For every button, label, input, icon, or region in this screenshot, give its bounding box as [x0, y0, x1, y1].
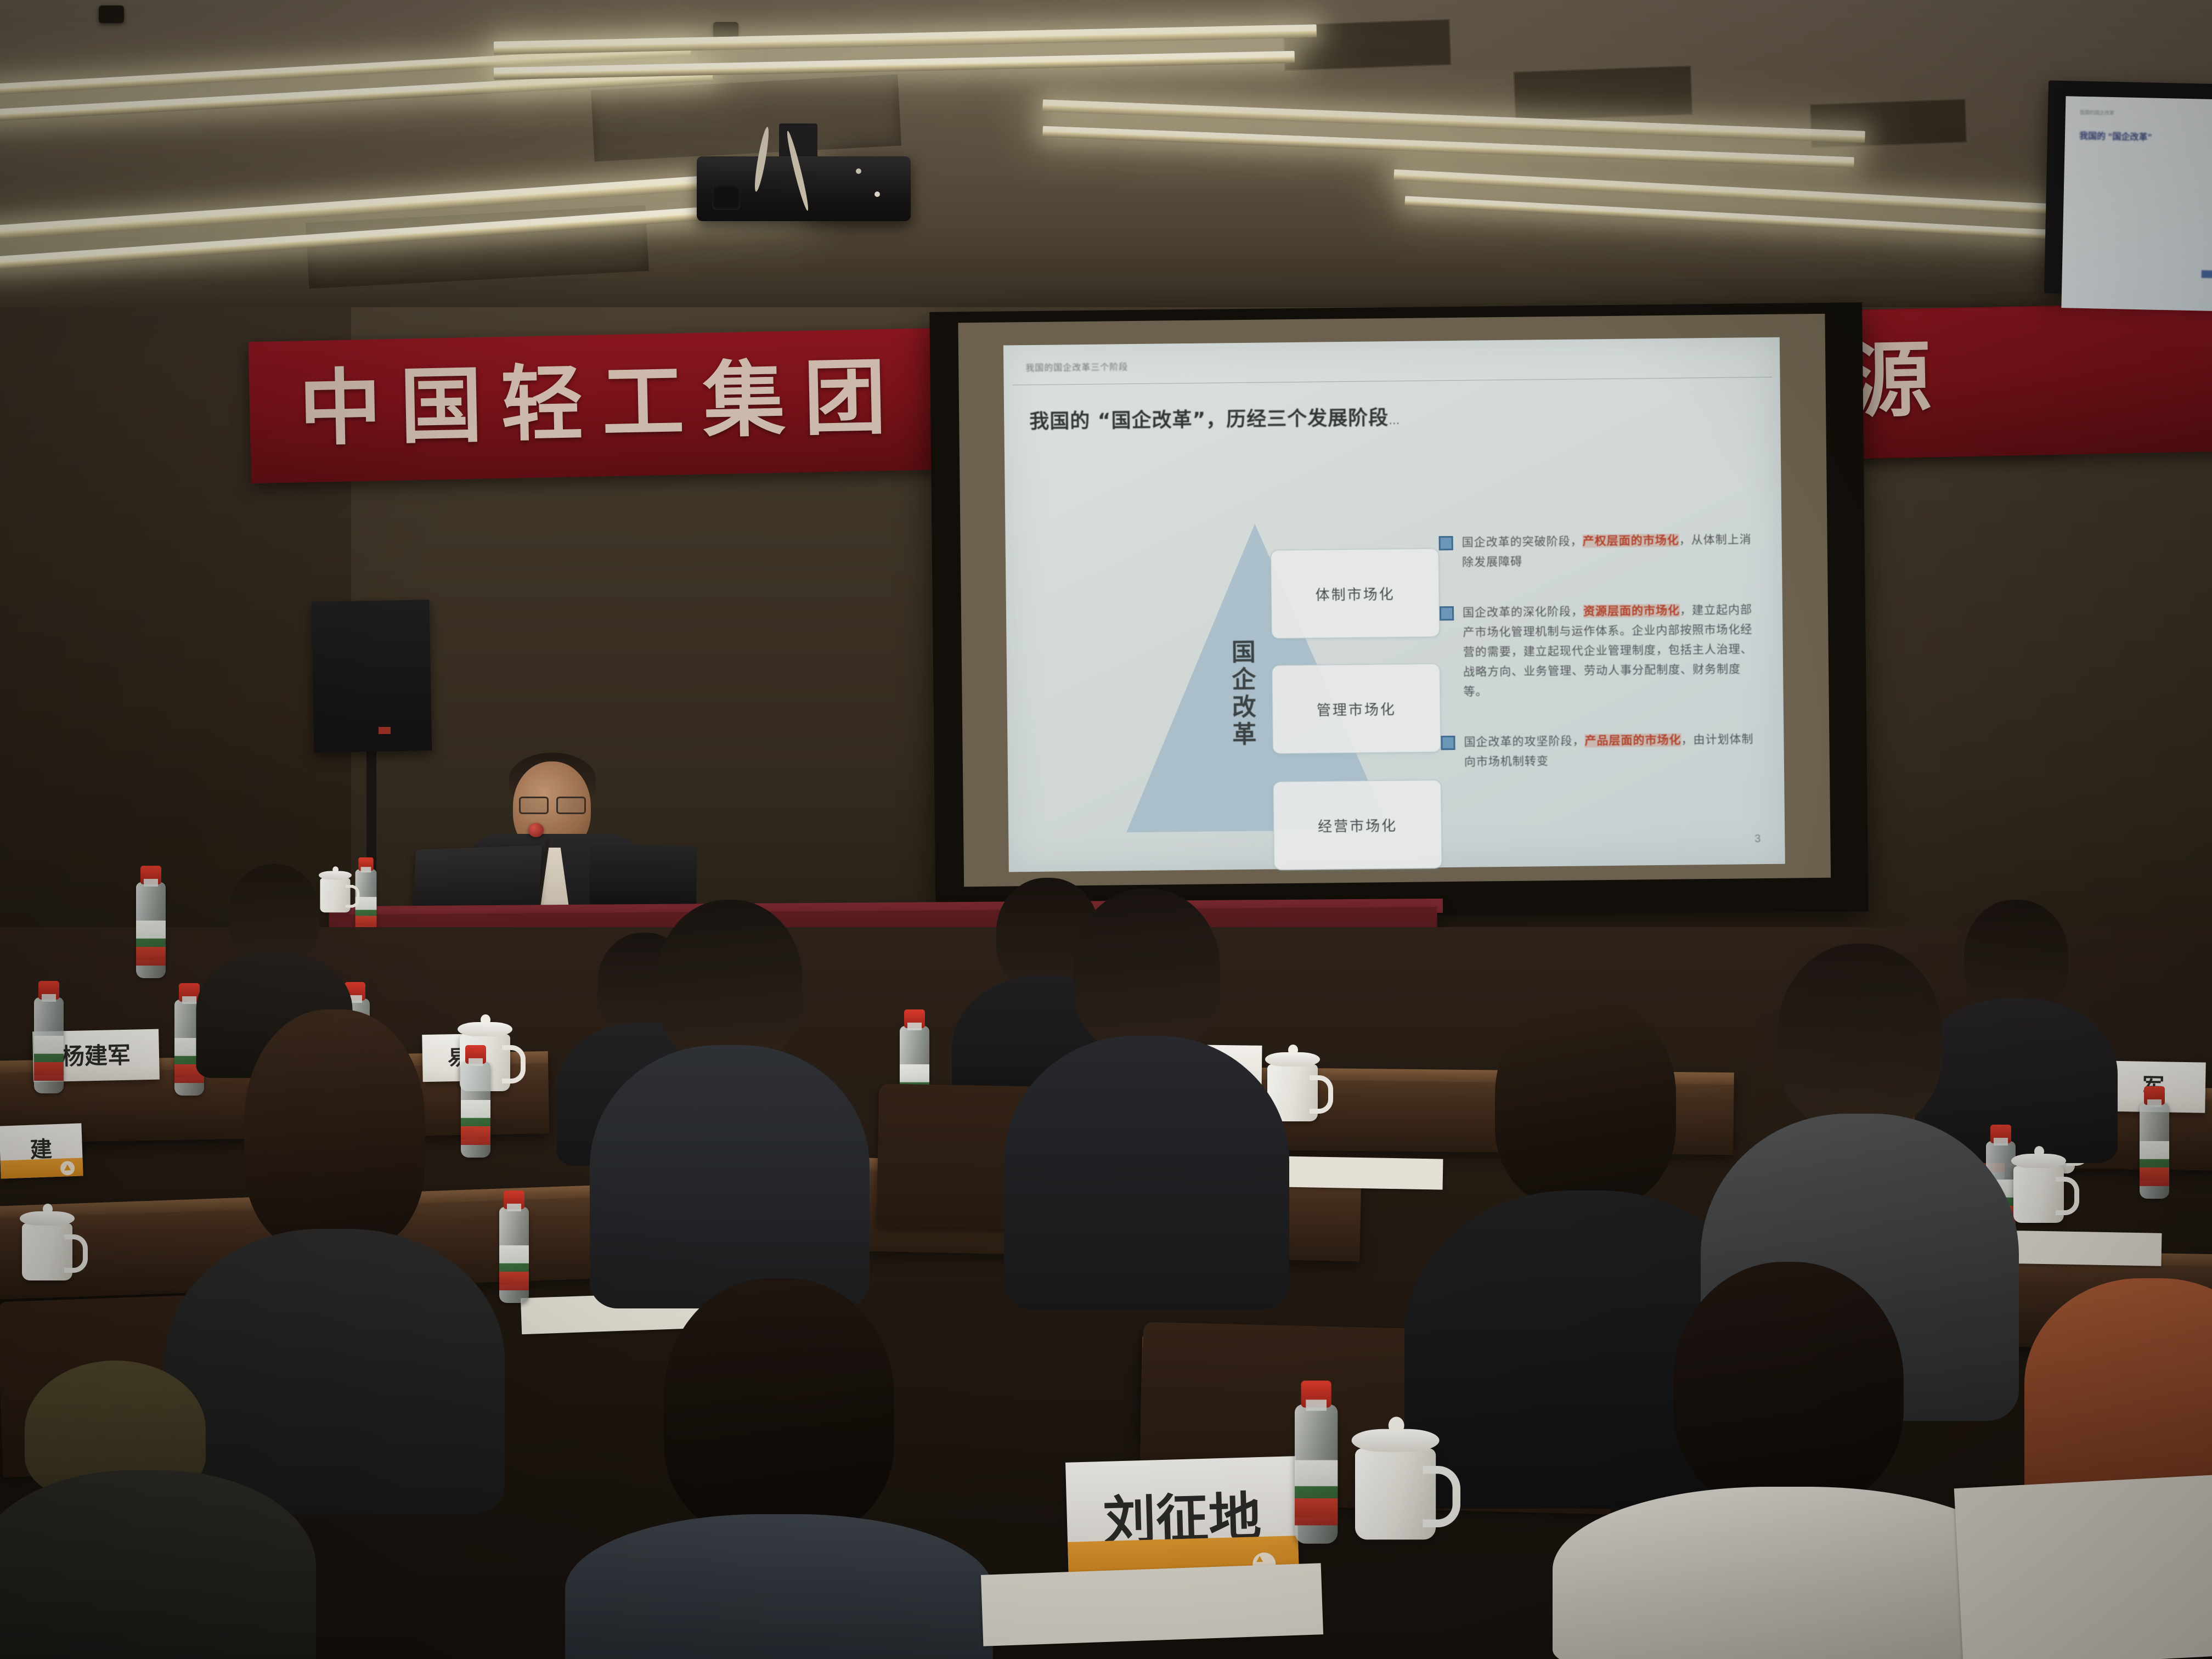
- bottle-label-red: [499, 1272, 529, 1290]
- wall-monitor: 我国的国企改革 我国的 “国企改革”: [2044, 81, 2212, 297]
- slide-page-number: 3: [1754, 833, 1760, 845]
- tea-cup-knob: [1389, 1417, 1404, 1434]
- tea-cup-handle: [346, 885, 360, 908]
- projection-screen-surface: 我国的国企改革三个阶段 我国的 “国企改革”，历经三个发展阶段… 国企改革 体制…: [958, 314, 1831, 887]
- bottle-label-red: [1295, 1498, 1338, 1525]
- pyramid-vertical-label: 国企改革: [1223, 639, 1260, 749]
- audience-member: [592, 1278, 966, 1659]
- pyramid-diagram: 国企改革 体制市场化 管理市场化 经营市场化: [1123, 522, 1390, 832]
- audience-head: [1495, 998, 1676, 1207]
- tea-cup-handle: [502, 1045, 526, 1084]
- projector-lens-icon: [712, 185, 741, 210]
- audience-head: [229, 864, 320, 966]
- tea-cup-knob: [2034, 1146, 2044, 1157]
- audience-member: [1580, 1262, 1997, 1659]
- bottle-neck: [907, 1023, 922, 1030]
- audience-member: [614, 900, 845, 1306]
- bullet-text: 国企改革的攻坚阶段，产品层面的市场化，由计划体制向市场机制转变: [1464, 729, 1759, 772]
- water-bottle: [136, 882, 166, 978]
- presenter-second-laptop: [589, 844, 697, 906]
- slide-kicker: 我国的国企改革三个阶段: [1025, 359, 1128, 374]
- slide-bullet: 国企改革的深化阶段，资源层面的市场化，建立起内部产市场化管理机制与运作体系。企业…: [1440, 600, 1759, 702]
- tea-cup-knob: [43, 1204, 53, 1215]
- slide-bullet-list: 国企改革的突破阶段，产权层面的市场化，从体制上消除发展障碍 国企改革的深化阶段，…: [1438, 529, 1759, 803]
- slide-bullet: 国企改革的突破阶段，产权层面的市场化，从体制上消除发展障碍: [1438, 529, 1757, 572]
- tea-cup: [1355, 1448, 1436, 1539]
- audience-body-white-shirt: [1553, 1487, 2024, 1659]
- tea-cup-handle: [1310, 1075, 1333, 1114]
- water-bottle: [1295, 1404, 1338, 1544]
- projector-indicator-icon: [874, 191, 880, 197]
- slide-divider: [1013, 377, 1773, 386]
- pa-speaker: [312, 600, 432, 753]
- audience-member: [0, 1361, 384, 1659]
- projector-indicator-icon: [856, 168, 861, 174]
- bullet-highlight: 产品层面的市场化: [1584, 733, 1681, 748]
- slide-title-main: 我国的 “国企改革”，历经三个发展阶段: [1029, 407, 1389, 433]
- bullet-text: 国企改革的突破阶段，产权层面的市场化，从体制上消除发展障碍: [1462, 529, 1757, 572]
- bottle-neck: [361, 867, 371, 872]
- conference-hall-photo: 中国轻工集团 源 我国的国企改革 我国的 “国企改革” 我国的国企改革三个阶段 …: [0, 0, 2212, 1659]
- handout-paper: [1954, 1474, 2212, 1659]
- bottle-neck: [144, 879, 158, 887]
- name-placard: 刘征地: [1065, 1456, 1299, 1583]
- wall-monitor-title: 我国的 “国企改革”: [2079, 128, 2152, 143]
- bullet-lead: 国企改革的攻坚阶段，: [1464, 734, 1584, 748]
- audience-member: [1031, 889, 1262, 1306]
- pa-speaker-led-icon: [379, 727, 391, 734]
- audience-head: [657, 900, 803, 1064]
- bullet-text: 国企改革的深化阶段，资源层面的市场化，建立起内部产市场化管理机制与运作体系。企业…: [1463, 600, 1759, 702]
- bullet-highlight: 资源层面的市场化: [1583, 604, 1680, 618]
- glasses-icon: [519, 797, 586, 811]
- pyramid-box-top: 体制市场化: [1271, 548, 1440, 639]
- tea-cup: [22, 1223, 72, 1280]
- water-bottle: [2140, 1103, 2169, 1199]
- event-banner-right: 源: [1825, 303, 2212, 459]
- ceiling-strip-light: [494, 24, 1317, 54]
- handout-paper: [1278, 1156, 1443, 1189]
- bullet-highlight: 产权层面的市场化: [1583, 534, 1679, 548]
- audience-head-long-hair: [244, 1009, 425, 1251]
- glasses-left-lens: [519, 797, 549, 814]
- bottle-neck: [2147, 1099, 2162, 1107]
- bullet-square-icon: [1441, 736, 1455, 750]
- microphone-icon: [528, 823, 544, 837]
- bottle-neck: [42, 994, 56, 1002]
- bottle-label-red: [136, 947, 166, 966]
- bullet-square-icon: [1440, 606, 1454, 620]
- tea-cup-knob: [1288, 1045, 1298, 1056]
- slide-bullet: 国企改革的攻坚阶段，产品层面的市场化，由计划体制向市场机制转变: [1441, 729, 1759, 772]
- audience-body: [0, 1470, 316, 1659]
- ceiling-speaker-icon: [99, 5, 124, 23]
- wall-monitor-slide: 我国的国企改革 我国的 “国企改革”: [2061, 96, 2212, 311]
- pyramid-box-middle: 管理市场化: [1272, 663, 1441, 754]
- slide-title: 我国的 “国企改革”，历经三个发展阶段…: [1029, 402, 1400, 434]
- tea-cup-handle: [64, 1234, 88, 1273]
- banner-text: 中国轻工集团: [298, 345, 906, 461]
- water-bottle: [34, 997, 64, 1093]
- audience-head: [1073, 889, 1220, 1053]
- audience-head: [1778, 944, 1942, 1130]
- ceiling-panel: [591, 74, 901, 161]
- tea-cup: [2013, 1166, 2064, 1223]
- presenter-laptop: [413, 845, 542, 913]
- water-bottle: [499, 1207, 529, 1303]
- projection-screen: 我国的国企改革三个阶段 我国的 “国企改革”，历经三个发展阶段… 国企改革 体制…: [929, 302, 1869, 921]
- bottle-neck: [1306, 1400, 1327, 1410]
- bottle-label-red: [34, 1062, 64, 1081]
- bottle-label-red: [2140, 1167, 2169, 1186]
- slide-title-ellipsis: …: [1389, 414, 1400, 427]
- bottle-neck: [182, 996, 196, 1004]
- audience-body: [1004, 1036, 1289, 1310]
- wall-monitor-accent: [2202, 270, 2212, 279]
- ceiling: [0, 0, 2212, 329]
- wall-monitor-kicker: 我国的国企改革: [2080, 109, 2114, 116]
- tea-cup-handle: [2056, 1177, 2079, 1215]
- ceiling-vent: [1514, 65, 1693, 121]
- bullet-square-icon: [1439, 536, 1453, 550]
- audience-head: [664, 1278, 894, 1536]
- glasses-right-lens: [556, 797, 586, 814]
- pyramid-box-bottom: 经营市场化: [1273, 780, 1442, 870]
- handout-paper: [981, 1563, 1323, 1646]
- bottle-neck: [507, 1204, 521, 1211]
- placard-logo-icon: [60, 1161, 75, 1176]
- tea-cup-handle: [1423, 1466, 1460, 1527]
- audience-body: [590, 1045, 870, 1308]
- bullet-lead: 国企改革的突破阶段，: [1462, 534, 1583, 549]
- audience-body-plaid: [565, 1514, 993, 1659]
- audience-head: [1673, 1262, 1904, 1509]
- presentation-slide: 我国的国企改革三个阶段 我国的 “国企改革”，历经三个发展阶段… 国企改革 体制…: [1003, 337, 1785, 872]
- placard-band: [1, 1158, 83, 1179]
- name-placard: 建: [0, 1123, 83, 1178]
- audience-member: [2063, 1278, 2212, 1509]
- bullet-lead: 国企改革的深化阶段，: [1463, 605, 1583, 619]
